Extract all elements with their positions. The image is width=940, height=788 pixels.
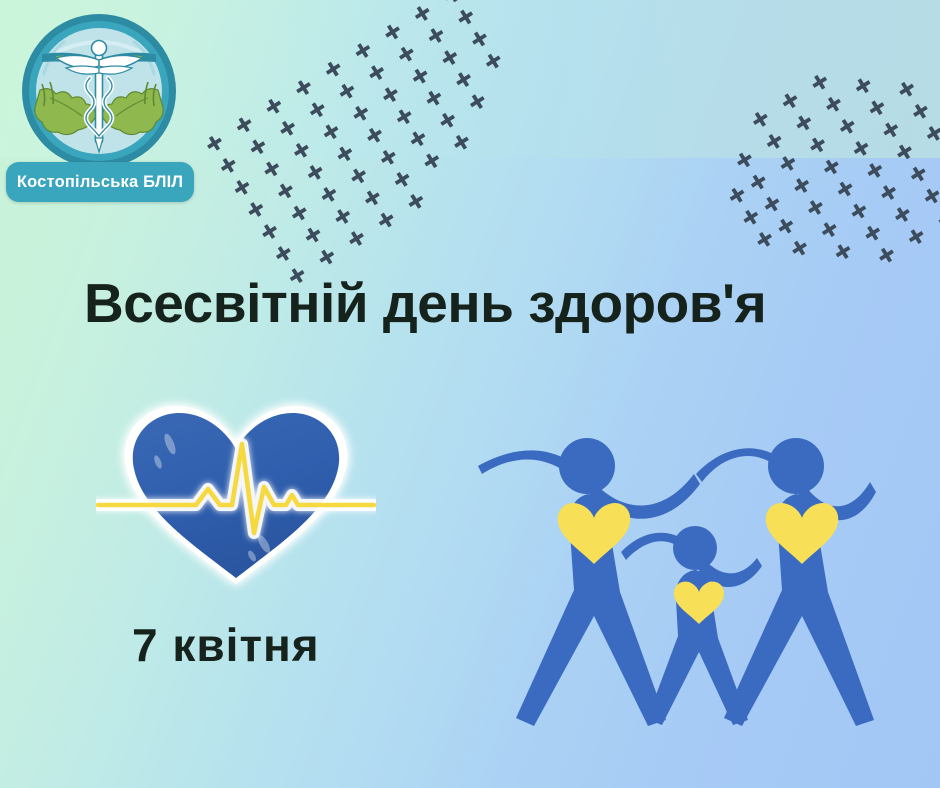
family-figures-illustration (470, 420, 880, 740)
hospital-logo: Костопільська БЛІЛ (6, 4, 202, 204)
plus-cluster-left (215, 0, 535, 250)
plus-cluster-right (740, 40, 940, 310)
event-date: 7 квітня (132, 618, 320, 672)
logo-label-badge: Костопільська БЛІЛ (6, 162, 194, 202)
page-title: Всесвітній день здоров'я (84, 275, 784, 333)
logo-label-text: Костопільська БЛІЛ (17, 173, 183, 192)
pulse-heart-illustration (96, 388, 376, 604)
logo-badge-circle (20, 12, 178, 170)
poster-canvas: Костопільська БЛІЛ Всесвітній день здоро… (0, 0, 940, 788)
